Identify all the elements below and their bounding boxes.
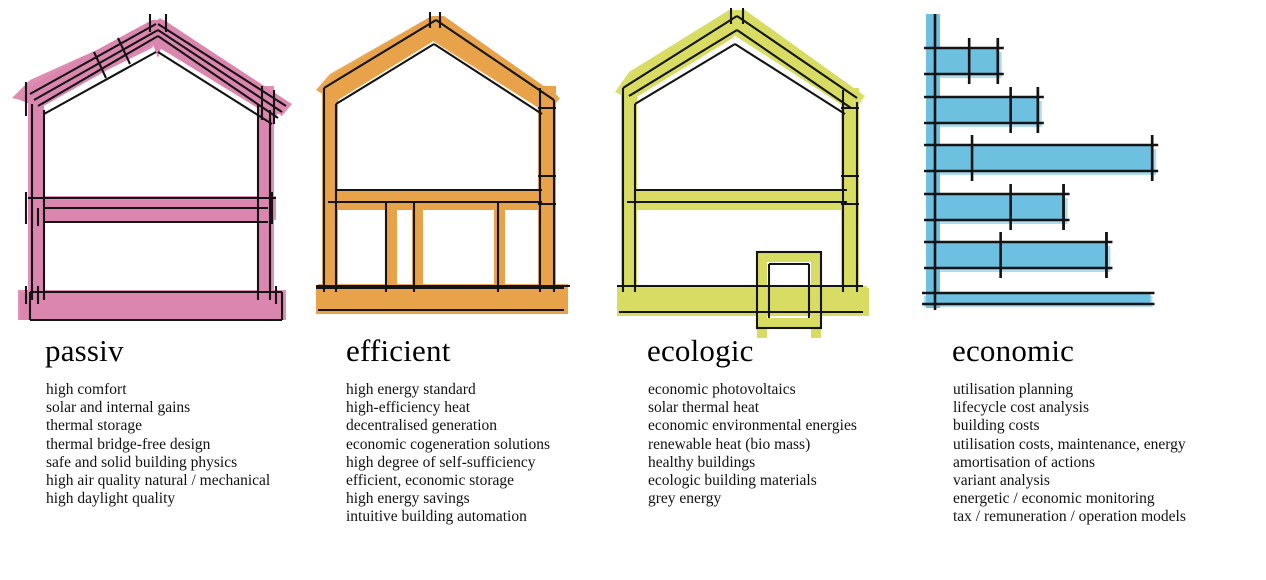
table-row[interactable] xyxy=(932,242,1106,268)
bullet-list-economic: utilisation planning lifecycle cost anal… xyxy=(953,381,1186,527)
bullet-list-efficient: high energy standard high-efficiency hea… xyxy=(346,381,550,527)
column-economic: economic utilisation planning lifecycle … xyxy=(910,0,1226,580)
list-item: grey energy xyxy=(648,490,857,508)
table-row[interactable] xyxy=(932,97,1038,123)
list-item: solar thermal heat xyxy=(648,399,857,417)
table-row[interactable] xyxy=(932,194,1064,220)
list-item: thermal storage xyxy=(46,417,270,435)
list-item: thermal bridge-free design xyxy=(46,436,270,454)
list-item: lifecycle cost analysis xyxy=(953,399,1186,417)
list-item: solar and internal gains xyxy=(46,399,270,417)
table-row[interactable] xyxy=(932,145,1152,171)
table-row[interactable] xyxy=(932,48,998,74)
poster-canvas: passiv high comfort solar and internal g… xyxy=(0,0,1266,580)
list-item: intuitive building automation xyxy=(346,508,550,526)
list-item: renewable heat (bio mass) xyxy=(648,436,857,454)
list-item: amortisation of actions xyxy=(953,454,1186,472)
orange-shadow-layer xyxy=(316,18,568,314)
column-efficient: efficient high energy standard high-effi… xyxy=(302,0,618,580)
list-item: high comfort xyxy=(46,381,270,399)
list-item: safe and solid building physics xyxy=(46,454,270,472)
list-item: high energy savings xyxy=(346,490,550,508)
house-section-green-graphic xyxy=(605,8,921,328)
pink-tick-marks xyxy=(26,14,276,304)
list-item: decentralised generation xyxy=(346,417,550,435)
house-section-pink-graphic xyxy=(0,8,316,328)
list-item: variant analysis xyxy=(953,472,1186,490)
pink-main-body xyxy=(20,20,288,320)
list-item: economic cogeneration solutions xyxy=(346,436,550,454)
house-section-orange-graphic xyxy=(302,8,618,328)
list-item: high energy standard xyxy=(346,381,550,399)
green-shadow-layer xyxy=(615,10,867,316)
column-title-economic: economic xyxy=(952,332,1074,370)
bar-chart-blue-graphic xyxy=(910,8,1226,328)
list-item: utilisation planning xyxy=(953,381,1186,399)
column-title-ecologic: ecologic xyxy=(647,332,754,370)
list-item: high air quality natural / mechanical xyxy=(46,472,270,490)
list-item: healthy buildings xyxy=(648,454,857,472)
list-item: high-efficiency heat xyxy=(346,399,550,417)
list-item: ecologic building materials xyxy=(648,472,857,490)
column-ecologic: ecologic economic photovoltaics solar th… xyxy=(605,0,921,580)
column-title-efficient: efficient xyxy=(346,332,451,370)
list-item: building costs xyxy=(953,417,1186,435)
chart-bars-layer xyxy=(922,38,1158,307)
column-title-passiv: passiv xyxy=(45,332,124,370)
column-passiv: passiv high comfort solar and internal g… xyxy=(0,0,316,580)
list-item: high daylight quality xyxy=(46,490,270,508)
baseline-bar[interactable] xyxy=(930,293,1151,304)
bullet-list-ecologic: economic photovoltaics solar thermal hea… xyxy=(648,381,857,508)
list-item: high degree of self-sufficiency xyxy=(346,454,550,472)
list-item: energetic / economic monitoring xyxy=(953,490,1186,508)
orange-tick-marks xyxy=(316,12,570,286)
list-item: economic environmental energies xyxy=(648,417,857,435)
list-item: tax / remuneration / operation models xyxy=(953,508,1186,526)
list-item: utilisation costs, maintenance, energy xyxy=(953,436,1186,454)
green-main-body xyxy=(617,10,869,338)
list-item: economic photovoltaics xyxy=(648,381,857,399)
list-item: efficient, economic storage xyxy=(346,472,550,490)
bullet-list-passiv: high comfort solar and internal gains th… xyxy=(46,381,270,508)
